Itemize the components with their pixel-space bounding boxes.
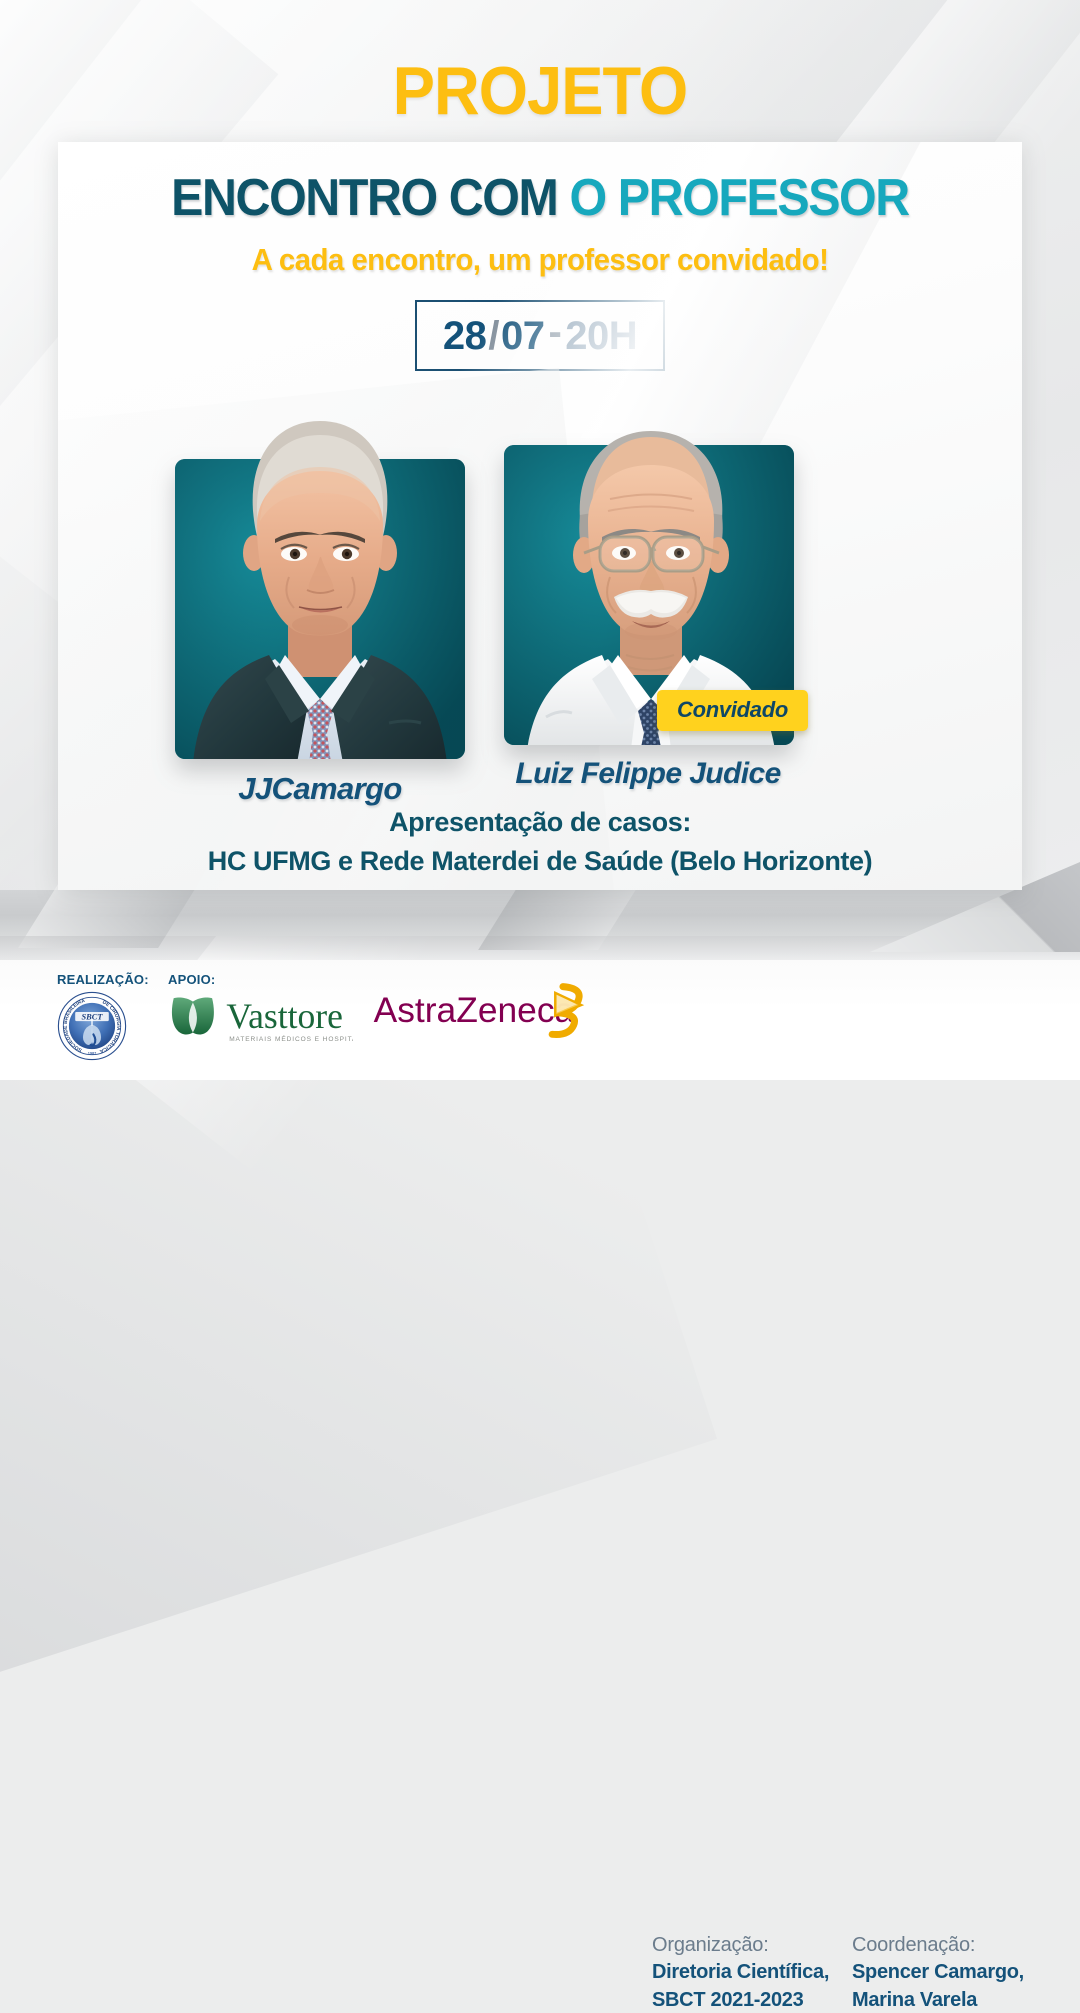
coordenacao-label: Coordenação:	[852, 1932, 1067, 1958]
astrazeneca-wordmark: AstraZeneca	[374, 991, 575, 1030]
vasttore-tagline: MATERIAIS MÉDICOS E HOSPITALARES	[229, 1034, 353, 1043]
cases-line-2: HC UFMG e Rede Materdei de Saúde (Belo H…	[58, 846, 1022, 877]
poster-title-part1: ENCONTRO COM	[171, 169, 569, 227]
sbct-logo: SOCIEDADE BRASILEIRA DE CIRURGIA TORÁCIC…	[57, 991, 127, 1061]
poster-tagline: A cada encontro, um professor convidado!	[82, 242, 998, 278]
speaker-name-1: JJCamargo	[175, 771, 465, 807]
apoio-label: APOIO:	[168, 972, 215, 987]
organizacao-line-2: SBCT 2021-2023	[652, 1988, 852, 2013]
speakers-row: JJCamargo	[58, 417, 1022, 777]
organizacao-line-1: Diretoria Científica,	[652, 1960, 852, 1986]
date-day: 28	[443, 314, 487, 358]
organizacao-label: Organização:	[652, 1932, 852, 1958]
date-time: 20H	[565, 314, 637, 358]
speaker-name-2: Luiz Felippe Judice	[458, 757, 838, 791]
astrazeneca-logo: AstraZeneca	[370, 982, 605, 1042]
cases-block: Apresentação de casos: HC UFMG e Rede Ma…	[58, 807, 1022, 877]
poster-title: ENCONTRO COM O PROFESSOR	[92, 168, 989, 228]
organizacao-block: Organização: Diretoria Científica, SBCT …	[652, 1932, 852, 2013]
portrait-jjcamargo	[157, 393, 483, 763]
poster-title-part2: O PROFESSOR	[569, 169, 908, 227]
coordenacao-block: Coordenação: Spencer Camargo, Marina Var…	[852, 1932, 1067, 2013]
poster-footer: REALIZAÇÃO: SOCIEDADE BRASILEIRA DE CIRU…	[0, 960, 1080, 1080]
vasttore-wordmark: Vasttore	[226, 996, 343, 1036]
date-badge-wrapper: 28/07-20H	[58, 300, 1022, 371]
sbct-year: 1987	[88, 1052, 97, 1056]
vasttore-logo: Vasttore MATERIAIS MÉDICOS E HOSPITALARE…	[168, 988, 353, 1054]
coordenacao-line-1: Spencer Camargo,	[852, 1960, 1067, 1986]
date-dash: -	[544, 310, 565, 354]
date-badge: 28/07-20H	[415, 300, 665, 371]
cases-line-1: Apresentação de casos:	[58, 807, 1022, 838]
date-month: 07	[501, 314, 545, 358]
poster-card: ENCONTRO COM O PROFESSOR A cada encontro…	[58, 142, 1022, 890]
sbct-acronym: SBCT	[82, 1012, 104, 1021]
date-separator: /	[486, 314, 501, 358]
realizacao-label: REALIZAÇÃO:	[57, 972, 149, 987]
speaker-card-1: JJCamargo	[175, 459, 465, 759]
project-label: PROJETO	[38, 52, 1042, 130]
speaker-card-2: Convidado Luiz Felippe Judice	[504, 445, 794, 745]
guest-badge: Convidado	[657, 690, 808, 731]
coordenacao-line-2: Marina Varela	[852, 1988, 1067, 2013]
